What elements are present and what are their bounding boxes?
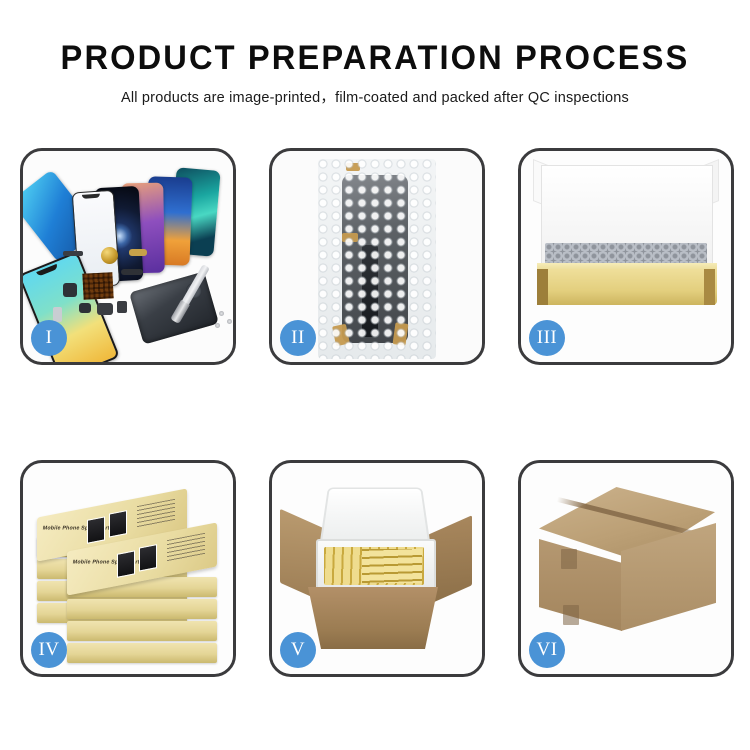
step-number-badge: IV (31, 632, 67, 668)
yellow-boxes-row-2 (362, 549, 422, 583)
box-label-screen-2 (109, 510, 127, 537)
header: PRODUCT PREPARATION PROCESS All products… (0, 0, 750, 107)
box-label-screen-2 (139, 544, 157, 571)
carton-tab-lower (563, 605, 579, 625)
part-flex-gold-1 (129, 249, 147, 256)
process-step-1[interactable]: I (20, 148, 236, 365)
box-label-screen-1 (117, 550, 135, 577)
stacked-box-front-3 (67, 599, 217, 619)
screw-3 (215, 323, 220, 328)
stacked-box-front-2 (67, 621, 217, 641)
kraft-box-body (537, 269, 717, 305)
box-label-spec-lines (137, 499, 175, 528)
screw-2 (227, 319, 232, 324)
step-number-badge: V (280, 632, 316, 668)
chip-array-component (82, 272, 113, 300)
coil-component (101, 247, 118, 264)
carton-tab-upper (561, 549, 577, 569)
process-step-4[interactable]: Mobile Phone Spare Parts Mobile Phone Sp… (20, 460, 236, 677)
process-step-2[interactable]: II (269, 148, 485, 365)
page-title: PRODUCT PREPARATION PROCESS (15, 0, 735, 75)
stacked-box-front-1 (67, 643, 217, 663)
process-step-6[interactable]: VI (518, 460, 734, 677)
bubble-texture (318, 159, 436, 359)
box-label-screen-1 (87, 516, 105, 543)
bubble-wrap-bag (318, 159, 436, 359)
step-number-badge: III (529, 320, 565, 356)
part-camera (117, 301, 127, 313)
process-step-3[interactable]: III (518, 148, 734, 365)
box-label-spec-lines (167, 533, 205, 562)
box-end-right (704, 269, 715, 305)
part-bar-1 (63, 251, 83, 256)
foam-box-lid (319, 487, 430, 545)
carton-front-panel (308, 587, 438, 649)
part-sim-tray (53, 307, 62, 322)
screw-1 (219, 311, 224, 316)
product-preparation-infographic: PRODUCT PREPARATION PROCESS All products… (0, 0, 750, 750)
step-number-badge: II (280, 320, 316, 356)
part-flex-2 (63, 283, 77, 297)
box-end-left (537, 269, 548, 305)
process-grid: I II (20, 148, 735, 677)
part-flex-1 (121, 269, 143, 275)
part-flex-3 (79, 303, 91, 313)
step-number-badge: I (31, 320, 67, 356)
process-step-5[interactable]: V (269, 460, 485, 677)
page-subtitle: All products are image-printed，film-coat… (0, 75, 750, 107)
part-speaker (97, 303, 113, 315)
box-stack: Mobile Phone Spare Parts Mobile Phone Sp… (31, 481, 231, 661)
step-number-badge: VI (529, 632, 565, 668)
